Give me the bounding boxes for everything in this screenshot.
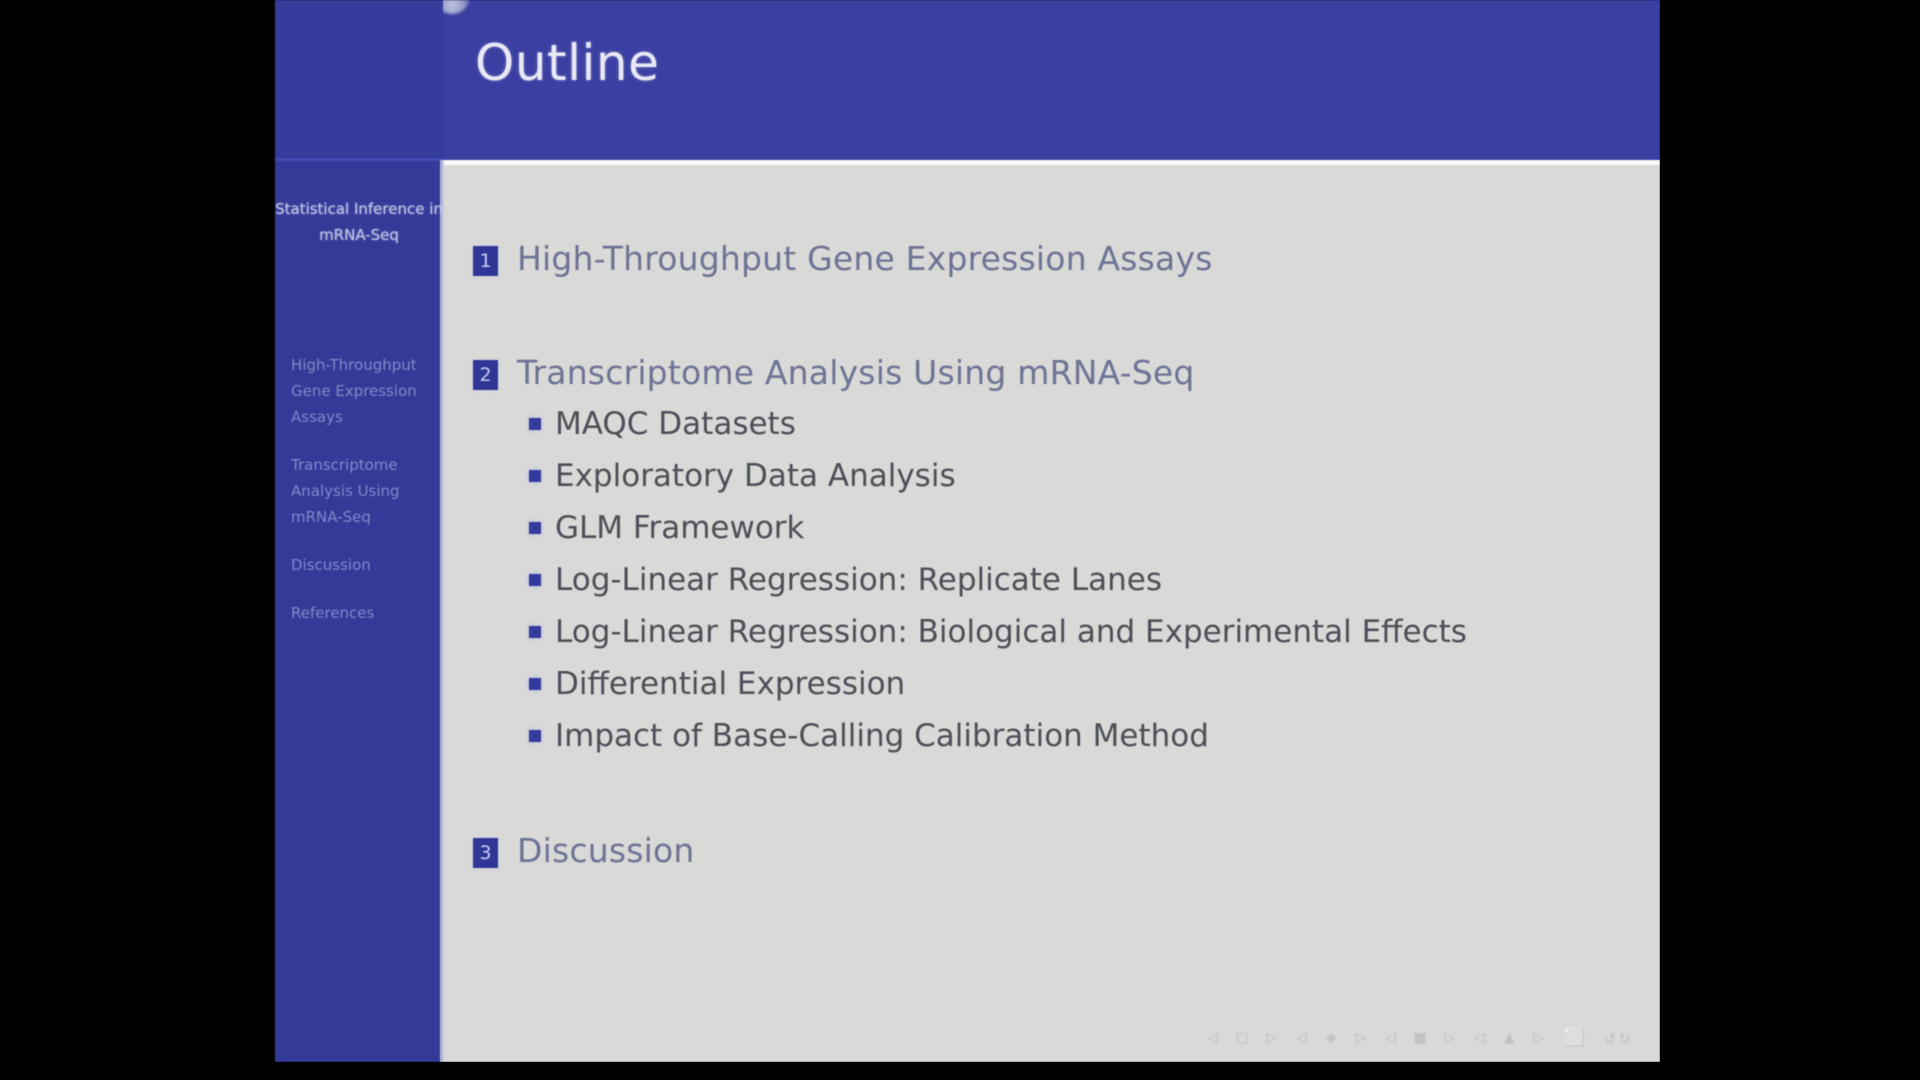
subsection-label: Exploratory Data Analysis bbox=[555, 454, 956, 498]
letterbox-left bbox=[0, 0, 274, 1080]
outline-list: 1 High-Throughput Gene Expression Assays… bbox=[473, 238, 1633, 872]
slide-header: Outline bbox=[275, 0, 1660, 160]
sidebar-item-transcriptome-analysis[interactable]: Transcriptome Analysis Using mRNA-Seq bbox=[291, 452, 441, 530]
subsection-list: MAQC Datasets Exploratory Data Analysis … bbox=[529, 402, 1633, 758]
square-bullet-icon bbox=[529, 418, 541, 430]
list-item[interactable]: Differential Expression bbox=[529, 662, 1633, 706]
section-number-badge: 3 bbox=[473, 838, 498, 868]
sidebar-item-high-throughput[interactable]: High-Throughput Gene Expression Assays bbox=[291, 352, 441, 430]
list-item[interactable]: MAQC Datasets bbox=[529, 402, 1633, 446]
letterbox-right bbox=[1660, 0, 1920, 1080]
sidebar-header-block bbox=[275, 0, 443, 160]
presentation-slide: Outline Statistical Inference in mRNA-Se… bbox=[275, 0, 1660, 1062]
subsection-label: Log-Linear Regression: Biological and Ex… bbox=[555, 610, 1467, 654]
list-item[interactable]: Log-Linear Regression: Biological and Ex… bbox=[529, 610, 1633, 654]
sidebar-item-references[interactable]: References bbox=[291, 600, 441, 626]
square-bullet-icon bbox=[529, 730, 541, 742]
sidebar: Statistical Inference in mRNA-Seq High-T… bbox=[275, 0, 443, 1062]
section-title: Discussion bbox=[517, 830, 695, 872]
list-item[interactable]: Log-Linear Regression: Replicate Lanes bbox=[529, 558, 1633, 602]
subsection-label: Impact of Base-Calling Calibration Metho… bbox=[555, 714, 1209, 758]
list-item[interactable]: Exploratory Data Analysis bbox=[529, 454, 1633, 498]
square-bullet-icon bbox=[529, 678, 541, 690]
sidebar-divider bbox=[275, 158, 443, 161]
outline-section-1[interactable]: 1 High-Throughput Gene Expression Assays bbox=[473, 238, 1633, 280]
sidebar-item-discussion[interactable]: Discussion bbox=[291, 552, 441, 578]
sidebar-presentation-title: Statistical Inference in mRNA-Seq bbox=[275, 196, 443, 248]
content-top-rule bbox=[443, 160, 1660, 165]
square-bullet-icon bbox=[529, 574, 541, 586]
beamer-navigation-symbols[interactable]: ◁ □ ▷ ◁ ◈ ▷ ◁ ■ ▷ ◁ ▲ ▷ ⬜ ↺↻ bbox=[1207, 1027, 1634, 1048]
section-number-badge: 2 bbox=[473, 360, 498, 390]
video-frame: Outline Statistical Inference in mRNA-Se… bbox=[0, 0, 1920, 1080]
spacer bbox=[473, 280, 1633, 352]
sidebar-nav: High-Throughput Gene Expression Assays T… bbox=[291, 352, 441, 648]
subsection-label: Differential Expression bbox=[555, 662, 905, 706]
subsection-label: MAQC Datasets bbox=[555, 402, 796, 446]
outline-section-3[interactable]: 3 Discussion bbox=[473, 830, 1633, 872]
square-bullet-icon bbox=[529, 522, 541, 534]
section-title: Transcriptome Analysis Using mRNA-Seq bbox=[517, 352, 1195, 394]
page-title: Outline bbox=[475, 34, 659, 92]
list-item[interactable]: Impact of Base-Calling Calibration Metho… bbox=[529, 714, 1633, 758]
spacer bbox=[473, 766, 1633, 830]
outline-section-2[interactable]: 2 Transcriptome Analysis Using mRNA-Seq bbox=[473, 352, 1633, 394]
square-bullet-icon bbox=[529, 470, 541, 482]
slide-content: 1 High-Throughput Gene Expression Assays… bbox=[443, 160, 1660, 1062]
section-title: High-Throughput Gene Expression Assays bbox=[517, 238, 1213, 280]
section-number-badge: 1 bbox=[473, 246, 498, 276]
subsection-label: Log-Linear Regression: Replicate Lanes bbox=[555, 558, 1162, 602]
letterbox-bottom bbox=[0, 1062, 1920, 1080]
square-bullet-icon bbox=[529, 626, 541, 638]
list-item[interactable]: GLM Framework bbox=[529, 506, 1633, 550]
subsection-label: GLM Framework bbox=[555, 506, 805, 550]
